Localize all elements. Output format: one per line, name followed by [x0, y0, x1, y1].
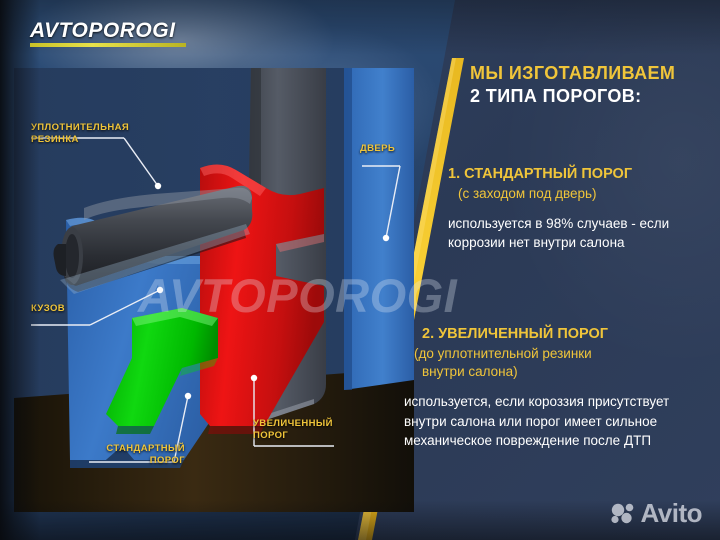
sill-type-2-subtitle-line1: (до уплотнительной резинки [404, 345, 710, 363]
brand-logo-text: AVTOPOROGI [30, 20, 186, 41]
brand-logo: AVTOPOROGI [30, 20, 186, 47]
brand-logo-underline [30, 43, 186, 47]
sill-type-2: 2. УВЕЛИЧЕННЫЙ ПОРОГ (до уплотнительной … [404, 325, 710, 451]
sill-type-1-title: 1. СТАНДАРТНЫЙ ПОРОГ [448, 165, 710, 185]
panel-heading-line2: 2 ТИПА ПОРОГОВ: [470, 85, 710, 108]
avito-dots-icon [610, 502, 636, 524]
panel-heading-line1: МЫ ИЗГОТАВЛИВАЕМ [470, 62, 710, 85]
sill-type-2-subtitle-line2: внутри салона) [404, 363, 710, 381]
sill-type-2-body: используется, если короззия присутствует… [404, 392, 710, 451]
sill-type-2-title: 2. УВЕЛИЧЕННЫЙ ПОРОГ [404, 325, 710, 345]
sill-type-1-body: используется в 98% случаев - если корроз… [448, 214, 710, 253]
sill-type-1-subtitle: (с заходом под дверь) [448, 185, 710, 203]
avito-logo: Avito [610, 500, 702, 526]
promo-image: УПЛОТНИТЕЛЬНАЯ РЕЗИНКА КУЗОВ ДВЕРЬ СТАНД… [0, 0, 720, 540]
panel-heading: МЫ ИЗГОТАВЛИВАЕМ 2 ТИПА ПОРОГОВ: [470, 62, 710, 107]
sill-type-1: 1. СТАНДАРТНЫЙ ПОРОГ (с заходом под двер… [448, 165, 710, 253]
avito-wordmark: Avito [640, 500, 702, 526]
